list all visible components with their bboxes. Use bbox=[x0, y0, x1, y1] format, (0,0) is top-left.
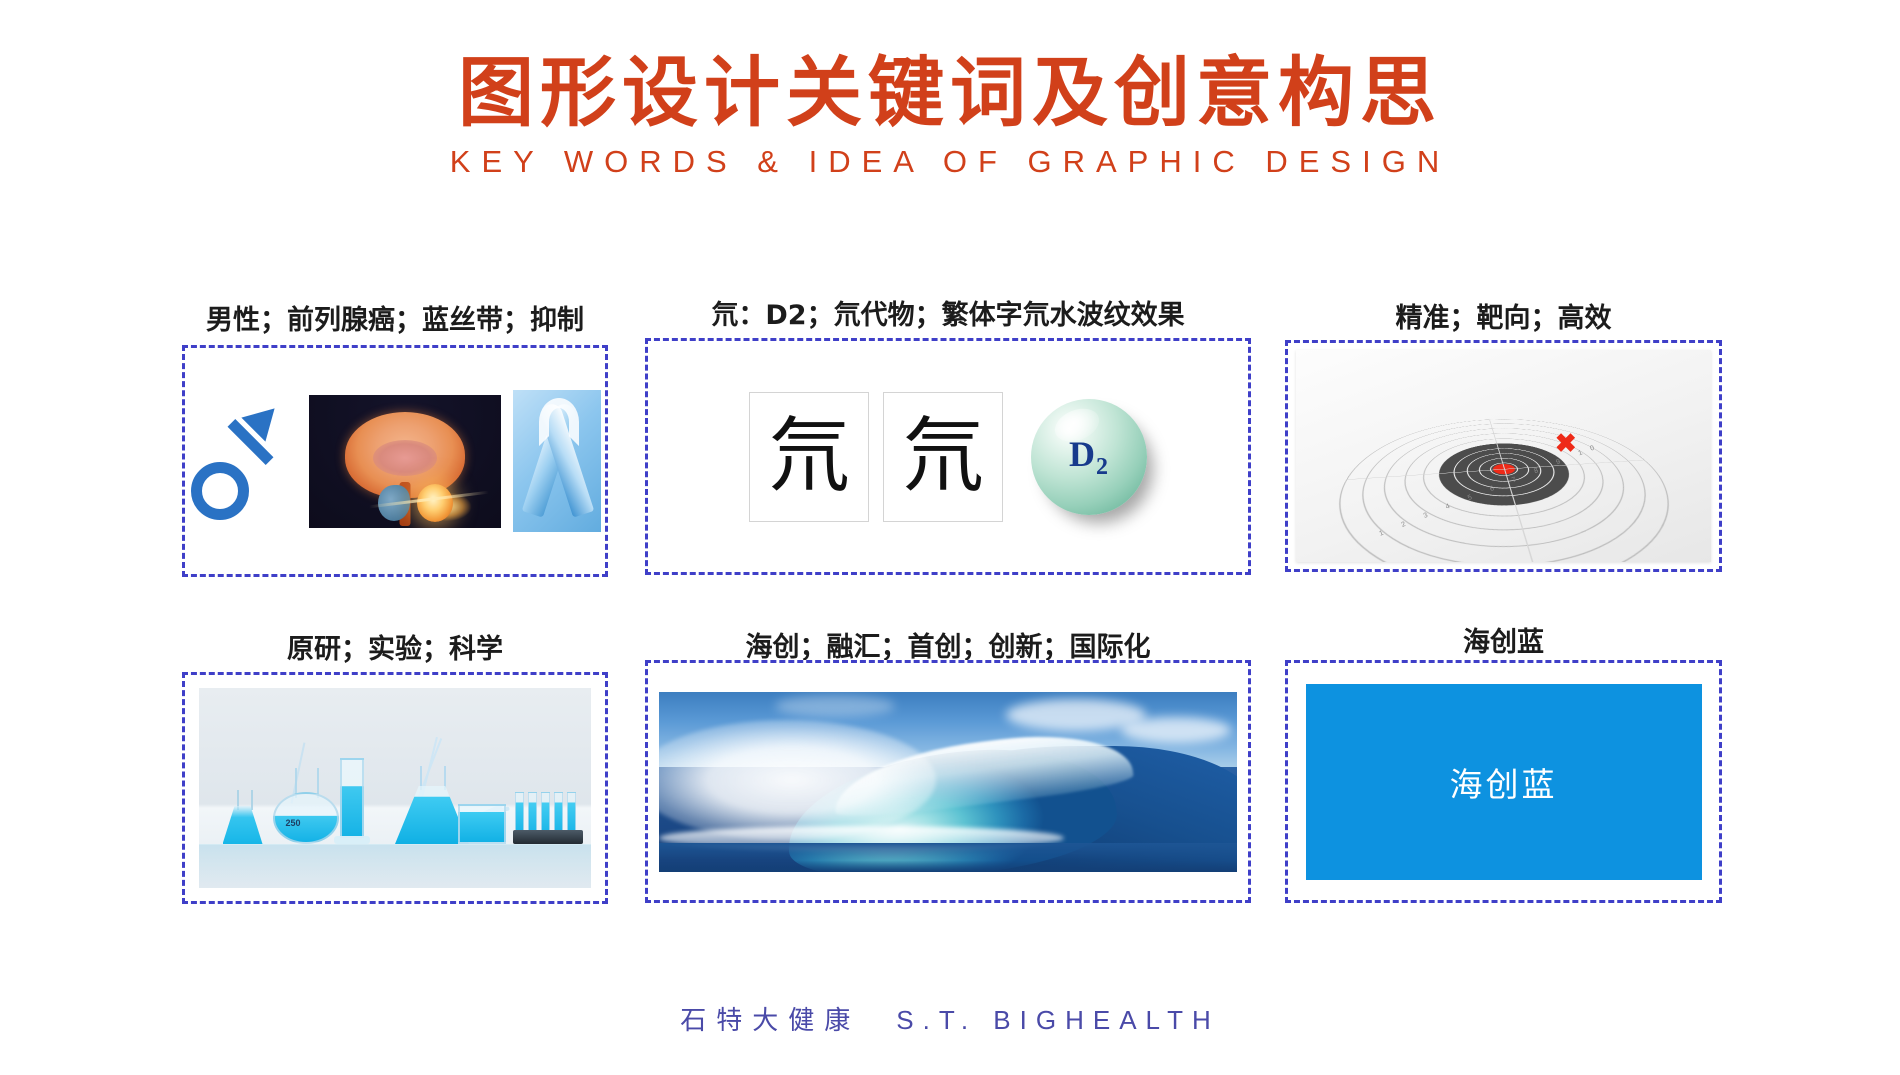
seal-script-glyph-box-2: 氘 bbox=[883, 392, 1003, 522]
deuterium-sphere-icon: D2 bbox=[1031, 399, 1147, 515]
page-subtitle: KEY WORDS & IDEA OF GRAPHIC DESIGN bbox=[0, 144, 1900, 180]
test-tube-rack bbox=[513, 788, 583, 844]
seal-script-glyph-box-1: 氘 bbox=[749, 392, 869, 522]
footer-brand-en: S.T. BIGHEALTH bbox=[896, 1005, 1219, 1035]
seal-script-glyph-1: 氘 bbox=[768, 416, 850, 498]
beaker bbox=[458, 796, 506, 844]
card-male-prostate[interactable] bbox=[182, 345, 608, 577]
lab-glassware-image: 250 bbox=[199, 688, 591, 888]
ocean-wave-image bbox=[659, 692, 1237, 872]
card-media-group bbox=[185, 348, 605, 574]
page-footer: 石特大健康S.T. BIGHEALTH bbox=[0, 1000, 1900, 1037]
card-media-group: 氘 氘 D2 bbox=[648, 341, 1248, 572]
target-hit-mark: ✖ bbox=[1552, 434, 1580, 452]
card-label-precision-target: 精准；靶向；高效 bbox=[1285, 296, 1722, 335]
round-bottom-flask: 250 bbox=[273, 772, 339, 844]
card-media-group: 海创蓝 bbox=[1288, 663, 1719, 900]
flask-volume-label-250: 250 bbox=[285, 818, 300, 828]
page-title: 图形设计关键词及创意构思 bbox=[0, 52, 1900, 134]
male-gender-symbol-icon bbox=[189, 386, 293, 536]
footer-brand-cn: 石特大健康 bbox=[680, 1006, 860, 1036]
brand-color-swatch-label: 海创蓝 bbox=[1450, 758, 1558, 806]
shooting-target-image: 1 2 3 4 5 6 7 8 9 10 ✖ bbox=[1296, 350, 1711, 562]
card-precision-target[interactable]: 1 2 3 4 5 6 7 8 9 10 ✖ bbox=[1285, 340, 1722, 572]
card-media-group: 1 2 3 4 5 6 7 8 9 10 ✖ bbox=[1288, 343, 1719, 569]
card-media-group: 250 bbox=[185, 675, 605, 901]
sphere-subscript: 2 bbox=[1096, 454, 1109, 480]
card-label-research-lab: 原研；实验；科学 bbox=[182, 627, 608, 666]
seal-script-glyph-2: 氘 bbox=[902, 416, 984, 498]
card-deuterium[interactable]: 氘 氘 D2 bbox=[645, 338, 1251, 575]
card-label-ocean-innovation: 海创；融汇；首创；创新；国际化 bbox=[645, 625, 1251, 664]
card-label-male-prostate: 男性；前列腺癌；蓝丝带；抑制 bbox=[182, 298, 608, 337]
prostate-illustration-image bbox=[309, 395, 501, 528]
card-label-brand-blue: 海创蓝 bbox=[1285, 620, 1722, 659]
small-flask bbox=[223, 792, 263, 844]
card-label-deuterium: 氘：D2；氘代物；繁体字氘水波纹效果 bbox=[645, 293, 1251, 332]
sphere-label: D bbox=[1069, 433, 1096, 473]
card-research-lab[interactable]: 250 bbox=[182, 672, 608, 904]
page-header: 图形设计关键词及创意构思 KEY WORDS & IDEA OF GRAPHIC… bbox=[0, 52, 1900, 180]
blue-ribbon-image bbox=[513, 390, 601, 532]
card-brand-blue[interactable]: 海创蓝 bbox=[1285, 660, 1722, 903]
graduated-cylinder bbox=[340, 758, 364, 844]
card-ocean-innovation[interactable] bbox=[645, 660, 1251, 903]
brand-color-swatch: 海创蓝 bbox=[1306, 684, 1702, 880]
card-media-group bbox=[648, 663, 1248, 900]
